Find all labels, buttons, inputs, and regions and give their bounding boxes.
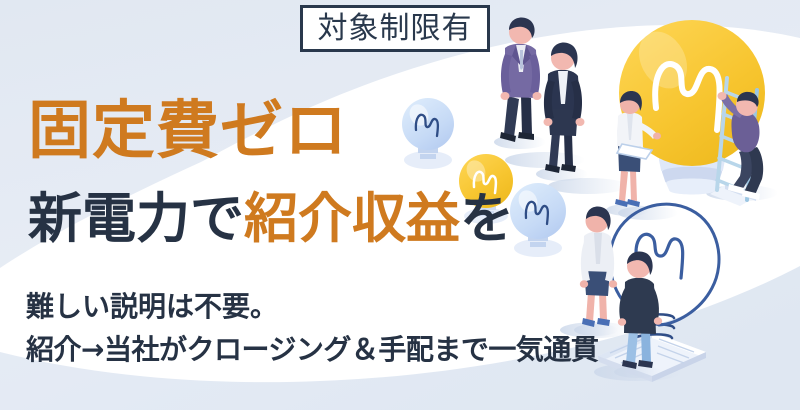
headline-line-1: 固定費ゼロ [28, 98, 514, 165]
subcopy: 難しい説明は不要。 紹介→当社がクロージング＆手配まで一気通貫 [26, 286, 598, 371]
badge-label: 対象制限有 [318, 14, 473, 44]
headline-line-2: 新電力で紹介収益を [28, 191, 514, 247]
status-badge: 対象制限有 [300, 5, 490, 52]
subcopy-line-2: 紹介→当社がクロージング＆手配まで一気通貫 [26, 329, 598, 372]
headline-line2-part2: 紹介収益 [244, 187, 460, 250]
small-blue-lightbulb-right [510, 183, 566, 257]
headline-line2-part3: を [460, 187, 514, 250]
page-title: 固定費ゼロ 新電力で紹介収益を [28, 98, 514, 247]
headline-line2-part1: 新電力で [28, 187, 244, 250]
subcopy-line-1: 難しい説明は不要。 [26, 286, 598, 329]
promo-banner: 対象制限有 固定費ゼロ 新電力で紹介収益を 難しい説明は不要。 紹介→当社がクロ… [0, 0, 800, 410]
